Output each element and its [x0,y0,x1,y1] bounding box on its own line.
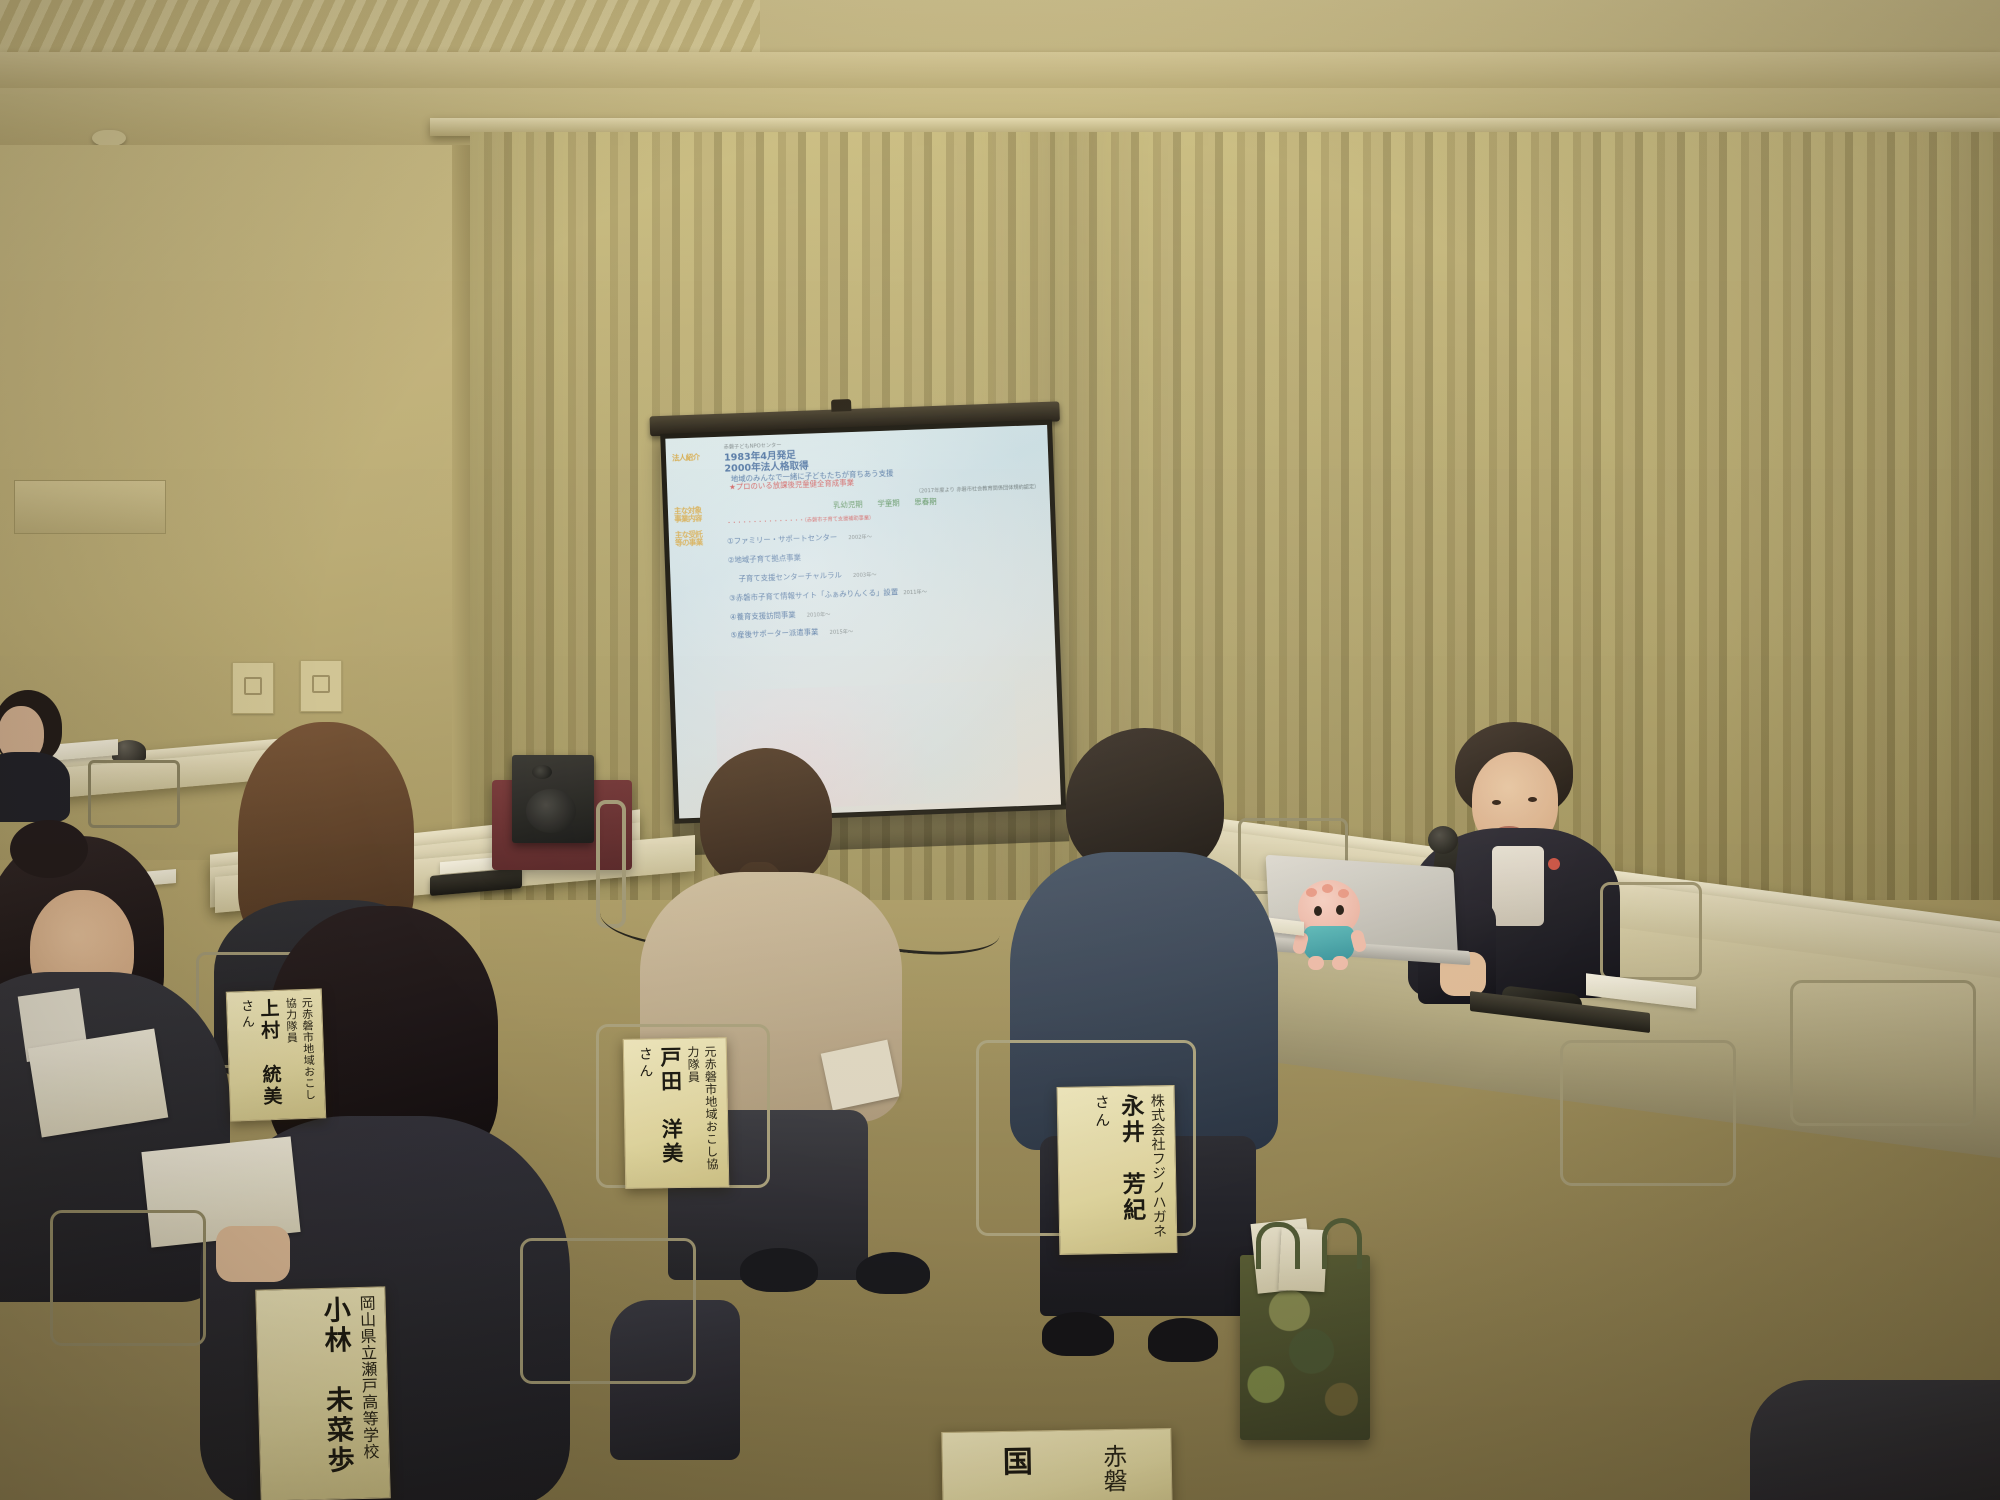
ceiling-vent-grid [0,0,760,58]
pa-speaker [512,755,594,843]
slide-item-text: 子育て支援センターチャルラル [738,570,842,583]
mascot-outfit [1304,926,1354,960]
screen-mount-knob [831,399,851,412]
shoe-icon [1148,1318,1218,1362]
woofer-icon [526,789,576,833]
placard-name: 上村 統美 [255,998,286,1109]
shoe-icon [856,1252,930,1294]
placard-name: 戸田 洋美 [655,1046,687,1167]
slide-item-year: 2002年〜 [848,534,872,541]
slide-item-text: 産後サポーター派遣事業 [737,628,819,640]
smoke-detector-icon [92,130,126,146]
slide-section-label-1: 法人紹介 [672,453,724,464]
placard-honorific: さん [236,999,256,1032]
slide-header-small: 赤磐子どもNPOセンター [724,443,782,451]
slide-section-sublabel-3: 等の事業 [675,538,727,548]
placard-name: 永井 芳紀 [1113,1093,1149,1224]
slide-item-year: 2011年〜 [903,589,927,596]
placard-org: 赤磐 [1095,1444,1131,1494]
wall-plaque [232,662,274,714]
shoe-icon [740,1248,818,1292]
conference-room-scene: 赤磐子どもNPOセンター 法人紹介 1983年4月発足 2000年法人格取得 地… [0,0,2000,1500]
camo-tote-bag [1240,1255,1370,1440]
wall-panel [14,480,166,534]
placard-honorific: さん [1092,1094,1114,1130]
placard-bottom: 国 赤磐 [941,1428,1173,1500]
screen-surface: 赤磐子どもNPOセンター 法人紹介 1983年4月発足 2000年法人格取得 地… [665,425,1061,819]
slide-item-text: ファミリー・サポートセンター [734,533,838,546]
chair-empty-far-right[interactable] [1790,980,1976,1126]
placard-honorific: さん [635,1046,656,1080]
placard-org: 株式会社フジノハガネ [1147,1093,1170,1238]
chair-foreground-center[interactable] [520,1238,696,1384]
slide-item-year: 2010年〜 [807,611,831,618]
hair-bun [10,820,88,878]
presenter-inner-top [1492,846,1544,926]
placard-org: 岡山県立瀬戸高等学校 [353,1295,381,1461]
chair-foreground-left[interactable] [50,1210,206,1346]
placard-kobayashi: 岡山県立瀬戸高等学校 小林 未菜歩 [255,1286,391,1500]
tote-handle [1256,1222,1300,1269]
chair-behind-presenter[interactable] [1600,882,1702,980]
placard-uemura: 元赤磐市地域おこし協力隊員 上村 統美 さん [226,988,326,1121]
slide-item-year: 2015年〜 [830,629,854,636]
slide-item-year: 2003年〜 [853,572,877,579]
slide-item-text: 地域子育て拠点事業 [734,553,801,564]
slide-item-list: ①ファミリー・サポートセンター 2002年〜 ②地域子育て拠点事業 子育て支援セ… [727,518,1049,643]
ceiling-beam [0,52,2000,88]
placard-org: 元赤磐市地域おこし協力隊員 [282,997,318,1112]
wall-plaque [300,660,342,712]
slide-section-sublabel-2: 事業内容 [674,514,726,524]
lapel-pin-icon [1548,858,1560,870]
slide-item-text: 養育支援訪問事業 [736,610,795,621]
microphone-head-icon [1428,826,1458,854]
shoe-icon [1042,1312,1114,1356]
screen-frame: 赤磐子どもNPOセンター 法人紹介 1983年4月発足 2000年法人格取得 地… [660,420,1066,824]
chair-empty-right[interactable] [1560,1040,1736,1186]
placard-toda: 元赤磐市地域おこし協力隊員 戸田 洋美 さん [623,1037,730,1189]
slide-item-text: 赤磐市子育て情報サイト「ふぁみりんくる」設置 [736,587,899,602]
placard-name: 国 [991,1445,1036,1479]
placard-name: 小林 未菜歩 [314,1295,358,1476]
tote-handle [1322,1218,1362,1269]
tweeter-icon [532,765,552,779]
student-hand [216,1226,290,1282]
slide-content: 赤磐子どもNPOセンター 法人紹介 1983年4月発足 2000年法人格取得 地… [665,425,1061,819]
placard-nagai: 株式会社フジノハガネ 永井 芳紀 さん [1057,1085,1178,1255]
chair-back-left[interactable] [88,760,180,828]
placard-org: 元赤磐市地域おこし協力隊員 [685,1045,721,1180]
